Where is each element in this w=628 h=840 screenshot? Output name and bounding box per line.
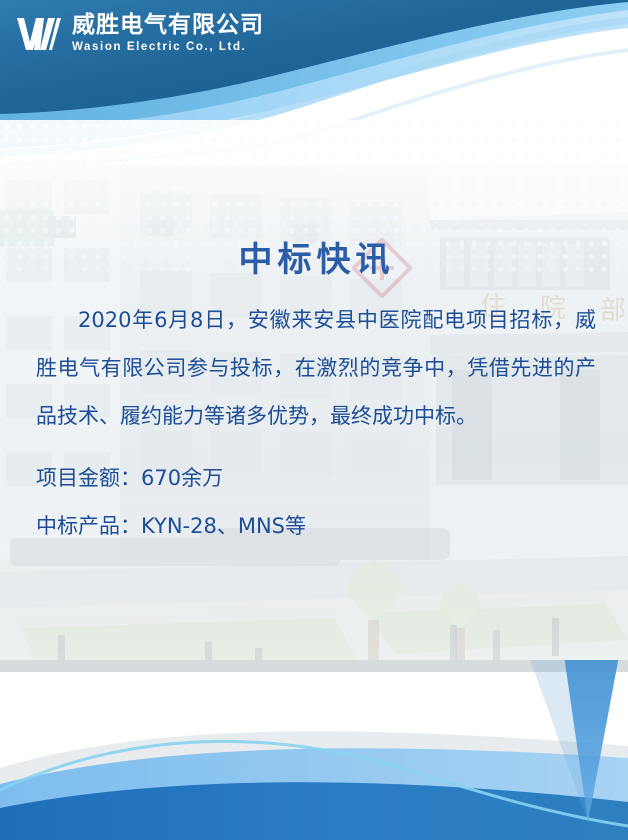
footer-wave-graphic (0, 660, 628, 840)
wasion-w-mark-icon (16, 16, 62, 52)
page-title: 中标快讯 (0, 232, 628, 281)
winning-products: 中标产品：KYN-28、MNS等 (36, 502, 596, 550)
footer-decoration (0, 660, 628, 840)
article-body: 2020年6月8日，安徽来安县中医院配电项目招标，威胜电气有限公司参与投标，在激… (36, 296, 596, 550)
brand-logo[interactable]: 威胜电气有限公司 Wasion Electric Co., Ltd. (16, 14, 264, 54)
article-paragraph: 2020年6月8日，安徽来安县中医院配电项目招标，威胜电气有限公司参与投标，在激… (36, 296, 596, 440)
project-amount: 项目金额：670余万 (36, 454, 596, 502)
poster-canvas: 住 院 部 (0, 0, 628, 840)
brand-name-en: Wasion Electric Co., Ltd. (72, 42, 264, 54)
brand-name-cn: 威胜电气有限公司 (72, 14, 264, 37)
